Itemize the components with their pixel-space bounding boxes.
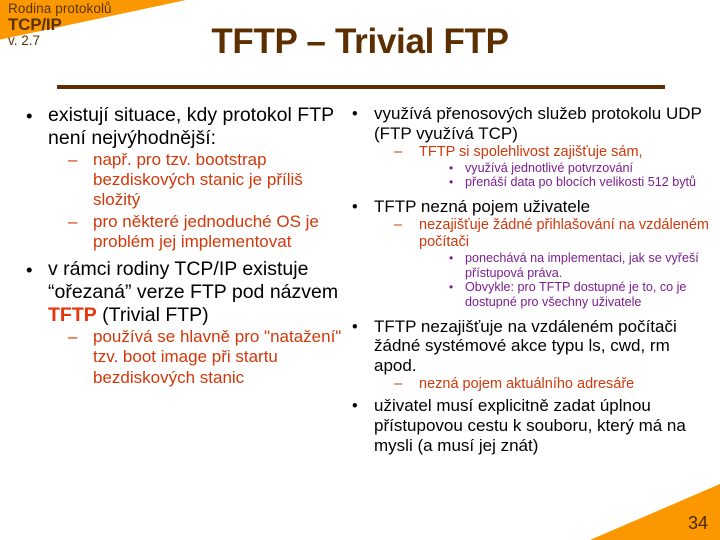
third-level-text: ponechává na implementaci, jak se vyřeší… bbox=[465, 251, 712, 280]
sub-sub-list-wrapper: • využívá jednotlivé potvrzování • přená… bbox=[419, 161, 712, 190]
list-item: – TFTP si spolehlivost zajišťuje sám, • … bbox=[394, 144, 712, 190]
sub-list-wrapper: – nezná pojem aktuálního adresáře bbox=[374, 376, 712, 393]
list-item: • Obvykle: pro TFTP dostupné je to, co j… bbox=[449, 280, 712, 309]
bullet-text: TFTP nezná pojem uživatele bbox=[374, 197, 712, 217]
dash-marker: – bbox=[394, 376, 402, 393]
list-item: • využívá přenosových služeb protokolu U… bbox=[352, 104, 712, 190]
sub-bullet-text: pro některé jednoduché OS je problém jej… bbox=[93, 212, 348, 252]
bullet-marker: • bbox=[352, 197, 358, 217]
sub-list-wrapper: – používá se hlavně pro "natažení" tzv. … bbox=[48, 327, 348, 388]
dash-marker: – bbox=[68, 212, 77, 232]
left-sub-bullet-list-2: – používá se hlavně pro "natažení" tzv. … bbox=[68, 327, 348, 388]
third-level-text: přenáší data po blocích velikosti 512 by… bbox=[465, 175, 712, 190]
bullet-text-before: v rámci rodiny TCP/IP existuje “ořezaná”… bbox=[48, 258, 338, 303]
bullet-text-after: (Trivial FTP) bbox=[97, 304, 209, 326]
right-sub-bullet-list-3: – nezná pojem aktuálního adresáře bbox=[394, 376, 712, 393]
brand-version-label: v. 2.7 bbox=[8, 34, 112, 48]
list-item: – pro některé jednoduché OS je problém j… bbox=[68, 212, 348, 252]
dash-marker: – bbox=[68, 327, 77, 347]
list-item: • TFTP nezajišťuje na vzdáleném počítači… bbox=[352, 317, 712, 394]
bullet-text: existují situace, kdy protokol FTP není … bbox=[48, 104, 348, 150]
bullet-text: uživatel musí explicitně zadat úplnou př… bbox=[374, 396, 712, 456]
third-level-text: využívá jednotlivé potvrzování bbox=[465, 161, 712, 176]
left-content-column: • existují situace, kdy protokol FTP nen… bbox=[26, 104, 348, 390]
list-item: • v rámci rodiny TCP/IP existuje “ořezan… bbox=[26, 258, 348, 388]
sub-bullet-text: nezná pojem aktuálního adresáře bbox=[419, 376, 712, 393]
sub-list-wrapper: – TFTP si spolehlivost zajišťuje sám, • … bbox=[374, 144, 712, 190]
brand-block: Rodina protokolů TCP/IP v. 2.7 bbox=[8, 2, 112, 48]
sub-sub-list-wrapper: • ponechává na implementaci, jak se vyře… bbox=[419, 251, 712, 309]
sub-bullet-text: nezajišťuje žádné přihlašování na vzdále… bbox=[419, 217, 712, 251]
list-item: – např. pro tzv. bootstrap bezdiskových … bbox=[68, 150, 348, 211]
bullet-marker: • bbox=[352, 396, 358, 416]
right-third-level-list: • využívá jednotlivé potvrzování • přená… bbox=[449, 161, 712, 190]
brand-title-label: TCP/IP bbox=[8, 16, 112, 34]
bullet-marker: • bbox=[449, 280, 453, 294]
list-item: • existují situace, kdy protokol FTP nen… bbox=[26, 104, 348, 252]
dash-marker: – bbox=[68, 150, 77, 170]
bullet-marker: • bbox=[352, 104, 358, 124]
list-item: • ponechává na implementaci, jak se vyře… bbox=[449, 251, 712, 280]
list-item: • využívá jednotlivé potvrzování bbox=[449, 161, 712, 176]
brand-series-label: Rodina protokolů bbox=[8, 2, 112, 16]
bullet-marker: • bbox=[352, 317, 358, 337]
sub-bullet-text: TFTP si spolehlivost zajišťuje sám, bbox=[419, 144, 712, 161]
dash-marker: – bbox=[394, 144, 402, 161]
bullet-marker: • bbox=[449, 161, 453, 175]
right-sub-bullet-list-2: – nezajišťuje žádné přihlašování na vzdá… bbox=[394, 217, 712, 310]
list-item: – používá se hlavně pro "natažení" tzv. … bbox=[68, 327, 348, 388]
bullet-marker: • bbox=[26, 104, 32, 127]
right-bullet-list: • využívá přenosových služeb protokolu U… bbox=[352, 104, 712, 456]
slide: Rodina protokolů TCP/IP v. 2.7 TFTP – Tr… bbox=[0, 0, 720, 540]
bullet-marker: • bbox=[449, 251, 453, 265]
sub-list-wrapper: – např. pro tzv. bootstrap bezdiskových … bbox=[48, 150, 348, 252]
sub-bullet-text: používá se hlavně pro "natažení" tzv. bo… bbox=[93, 327, 348, 388]
sub-bullet-text: např. pro tzv. bootstrap bezdiskových st… bbox=[93, 150, 348, 211]
list-item: – nezajišťuje žádné přihlašování na vzdá… bbox=[394, 217, 712, 310]
tftp-highlight: TFTP bbox=[48, 304, 97, 326]
bullet-marker: • bbox=[449, 175, 453, 189]
list-item: • TFTP nezná pojem uživatele – nezajišťu… bbox=[352, 197, 712, 309]
title-divider bbox=[57, 85, 665, 89]
dash-marker: – bbox=[394, 217, 402, 234]
right-sub-bullet-list: – TFTP si spolehlivost zajišťuje sám, • … bbox=[394, 144, 712, 190]
bullet-text-rich: v rámci rodiny TCP/IP existuje “ořezaná”… bbox=[48, 258, 348, 327]
slide-body: • existují situace, kdy protokol FTP nen… bbox=[0, 104, 720, 524]
left-bullet-list: • existují situace, kdy protokol FTP nen… bbox=[26, 104, 348, 388]
third-level-text: Obvykle: pro TFTP dostupné je to, co je … bbox=[465, 280, 712, 309]
bullet-marker: • bbox=[26, 258, 32, 281]
sub-list-wrapper: – nezajišťuje žádné přihlašování na vzdá… bbox=[374, 217, 712, 310]
right-content-column: • využívá přenosových služeb protokolu U… bbox=[352, 104, 712, 458]
right-third-level-list-2: • ponechává na implementaci, jak se vyře… bbox=[449, 251, 712, 309]
page-number: 34 bbox=[688, 513, 708, 534]
bullet-text: TFTP nezajišťuje na vzdáleném počítači ž… bbox=[374, 317, 712, 377]
list-item: • přenáší data po blocích velikosti 512 … bbox=[449, 175, 712, 190]
list-item: • uživatel musí explicitně zadat úplnou … bbox=[352, 396, 712, 456]
list-item: – nezná pojem aktuálního adresáře bbox=[394, 376, 712, 393]
left-sub-bullet-list: – např. pro tzv. bootstrap bezdiskových … bbox=[68, 150, 348, 252]
bullet-text: využívá přenosových služeb protokolu UDP… bbox=[374, 104, 712, 144]
